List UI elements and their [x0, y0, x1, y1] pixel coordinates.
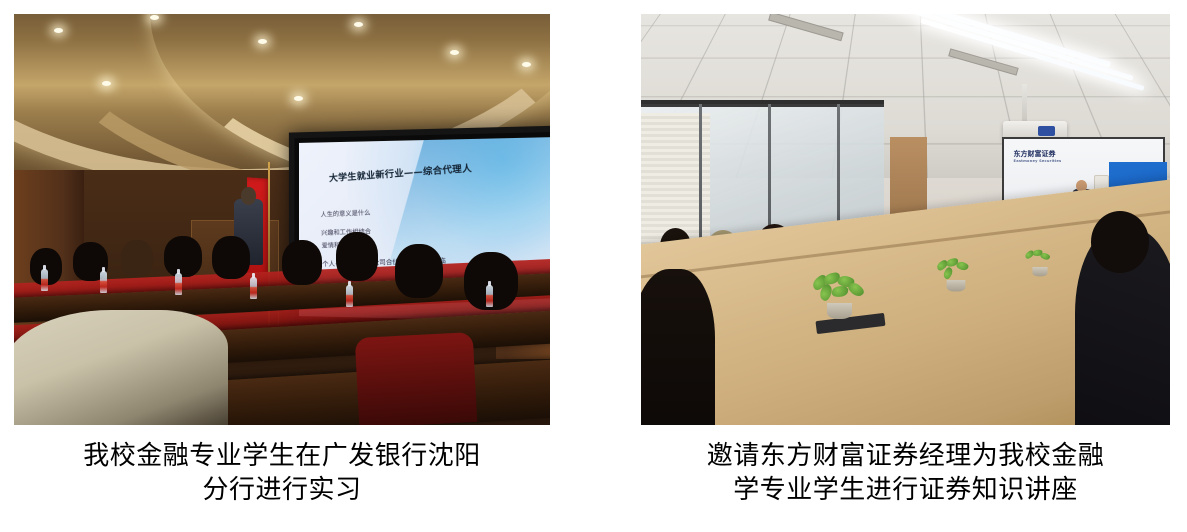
eastmoney-logo-subtext: Eastmoney Securities	[1014, 159, 1062, 163]
figure-row: 大学生就业新行业——综合代理人 人生的意义是什么 兴趣和工作相结合 爱情和婚姻相…	[0, 0, 1187, 532]
audience-head	[121, 240, 153, 277]
figure-right-caption: 邀请东方财富证券经理为我校金融 学专业学生进行证券知识讲座	[641, 439, 1170, 508]
caption-line: 分行进行实习	[14, 473, 550, 507]
water-bottle	[250, 277, 257, 299]
eastmoney-logo: 东方财富证券 Eastmoney Securities	[1014, 149, 1062, 163]
photo-lecture-hall: 大学生就业新行业——综合代理人 人生的意义是什么 兴趣和工作相结合 爱情和婚姻相…	[14, 14, 550, 425]
glass-frame	[641, 100, 884, 104]
water-bottle	[41, 269, 48, 291]
audience-head	[164, 236, 202, 277]
water-bottle	[100, 271, 107, 293]
water-bottle	[346, 285, 353, 307]
caption-line: 我校金融专业学生在广发银行沈阳	[14, 439, 550, 473]
audience-head	[282, 240, 322, 285]
photo-office-seminar: 东方财富证券 Eastmoney Securities 新时代 大金融	[641, 14, 1170, 425]
audience-head	[395, 244, 443, 297]
figure-page: 大学生就业新行业——综合代理人 人生的意义是什么 兴趣和工作相结合 爱情和婚姻相…	[0, 0, 1187, 532]
figure-left-caption: 我校金融专业学生在广发银行沈阳 分行进行实习	[14, 439, 550, 508]
water-bottle	[486, 285, 493, 307]
foreground-person	[14, 310, 228, 425]
foreground-attendee-head	[1091, 211, 1149, 273]
caption-line: 学专业学生进行证券知识讲座	[641, 473, 1170, 507]
foreground-attendee-left	[641, 269, 715, 425]
speaker-head	[241, 187, 257, 204]
water-bottle	[175, 273, 182, 295]
audience-head	[336, 232, 379, 281]
potted-plant	[1023, 250, 1057, 277]
foreground-chair	[355, 332, 477, 425]
projector-mount	[1022, 84, 1027, 124]
figure-left: 大学生就业新行业——综合代理人 人生的意义是什么 兴趣和工作相结合 爱情和婚姻相…	[14, 14, 550, 508]
audience-head	[212, 236, 250, 279]
potted-plant	[935, 259, 977, 292]
projector-lens-icon	[1038, 126, 1055, 137]
figure-right: 东方财富证券 Eastmoney Securities 新时代 大金融	[641, 14, 1170, 508]
eastmoney-logo-text: 东方财富证券	[1014, 150, 1056, 158]
caption-line: 邀请东方财富证券经理为我校金融	[641, 439, 1170, 473]
potted-plant	[810, 273, 868, 319]
